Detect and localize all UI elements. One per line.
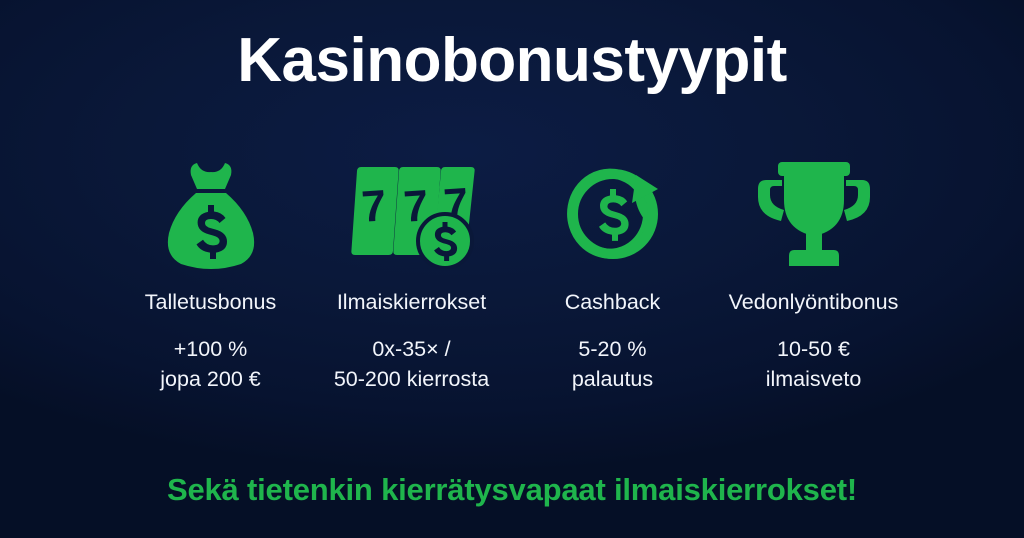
bonus-card-title: Vedonlyöntibonus (729, 290, 899, 316)
svg-text:7: 7 (360, 181, 388, 232)
detail-line-1: 0x-35× / (334, 334, 489, 365)
cashback-refresh-dollar-icon (558, 158, 668, 270)
detail-line-2: ilmaisveto (766, 364, 862, 395)
trophy-icon (752, 158, 876, 270)
bonus-card-ilmaiskierrokset: 7 7 7 Ilmaiskierrokset 0x-35× / 50-200 k… (311, 158, 512, 395)
bonus-card-cashback: Cashback 5-20 % palautus (512, 158, 713, 395)
detail-line-2: palautus (572, 364, 653, 395)
page-title: Kasinobonustyypit (0, 28, 1024, 94)
detail-line-1: 10-50 € (766, 334, 862, 365)
casino-bonus-infographic: Kasinobonustyypit Talletusbonus +100 % j… (0, 0, 1024, 538)
money-bag-icon (163, 158, 259, 270)
bonus-card-detail: 5-20 % palautus (572, 334, 653, 395)
footer-tagline: Sekä tietenkin kierrätysvapaat ilmaiskie… (0, 472, 1024, 508)
slot-machine-777-icon: 7 7 7 (349, 158, 475, 270)
bonus-card-detail: 10-50 € ilmaisveto (766, 334, 862, 395)
bonus-card-detail: +100 % jopa 200 € (160, 334, 260, 395)
detail-line-2: jopa 200 € (160, 364, 260, 395)
bonus-card-detail: 0x-35× / 50-200 kierrosta (334, 334, 489, 395)
bonus-card-title: Talletusbonus (145, 290, 276, 316)
bonus-card-talletusbonus: Talletusbonus +100 % jopa 200 € (110, 158, 311, 395)
bonus-card-row: Talletusbonus +100 % jopa 200 € 7 7 (110, 158, 914, 395)
detail-line-1: 5-20 % (572, 334, 653, 365)
detail-line-2: 50-200 kierrosta (334, 364, 489, 395)
bonus-card-title: Ilmaiskierrokset (337, 290, 486, 316)
detail-line-1: +100 % (160, 334, 260, 365)
bonus-card-title: Cashback (565, 290, 661, 316)
bonus-card-vedonlyontibonus: Vedonlyöntibonus 10-50 € ilmaisveto (713, 158, 914, 395)
